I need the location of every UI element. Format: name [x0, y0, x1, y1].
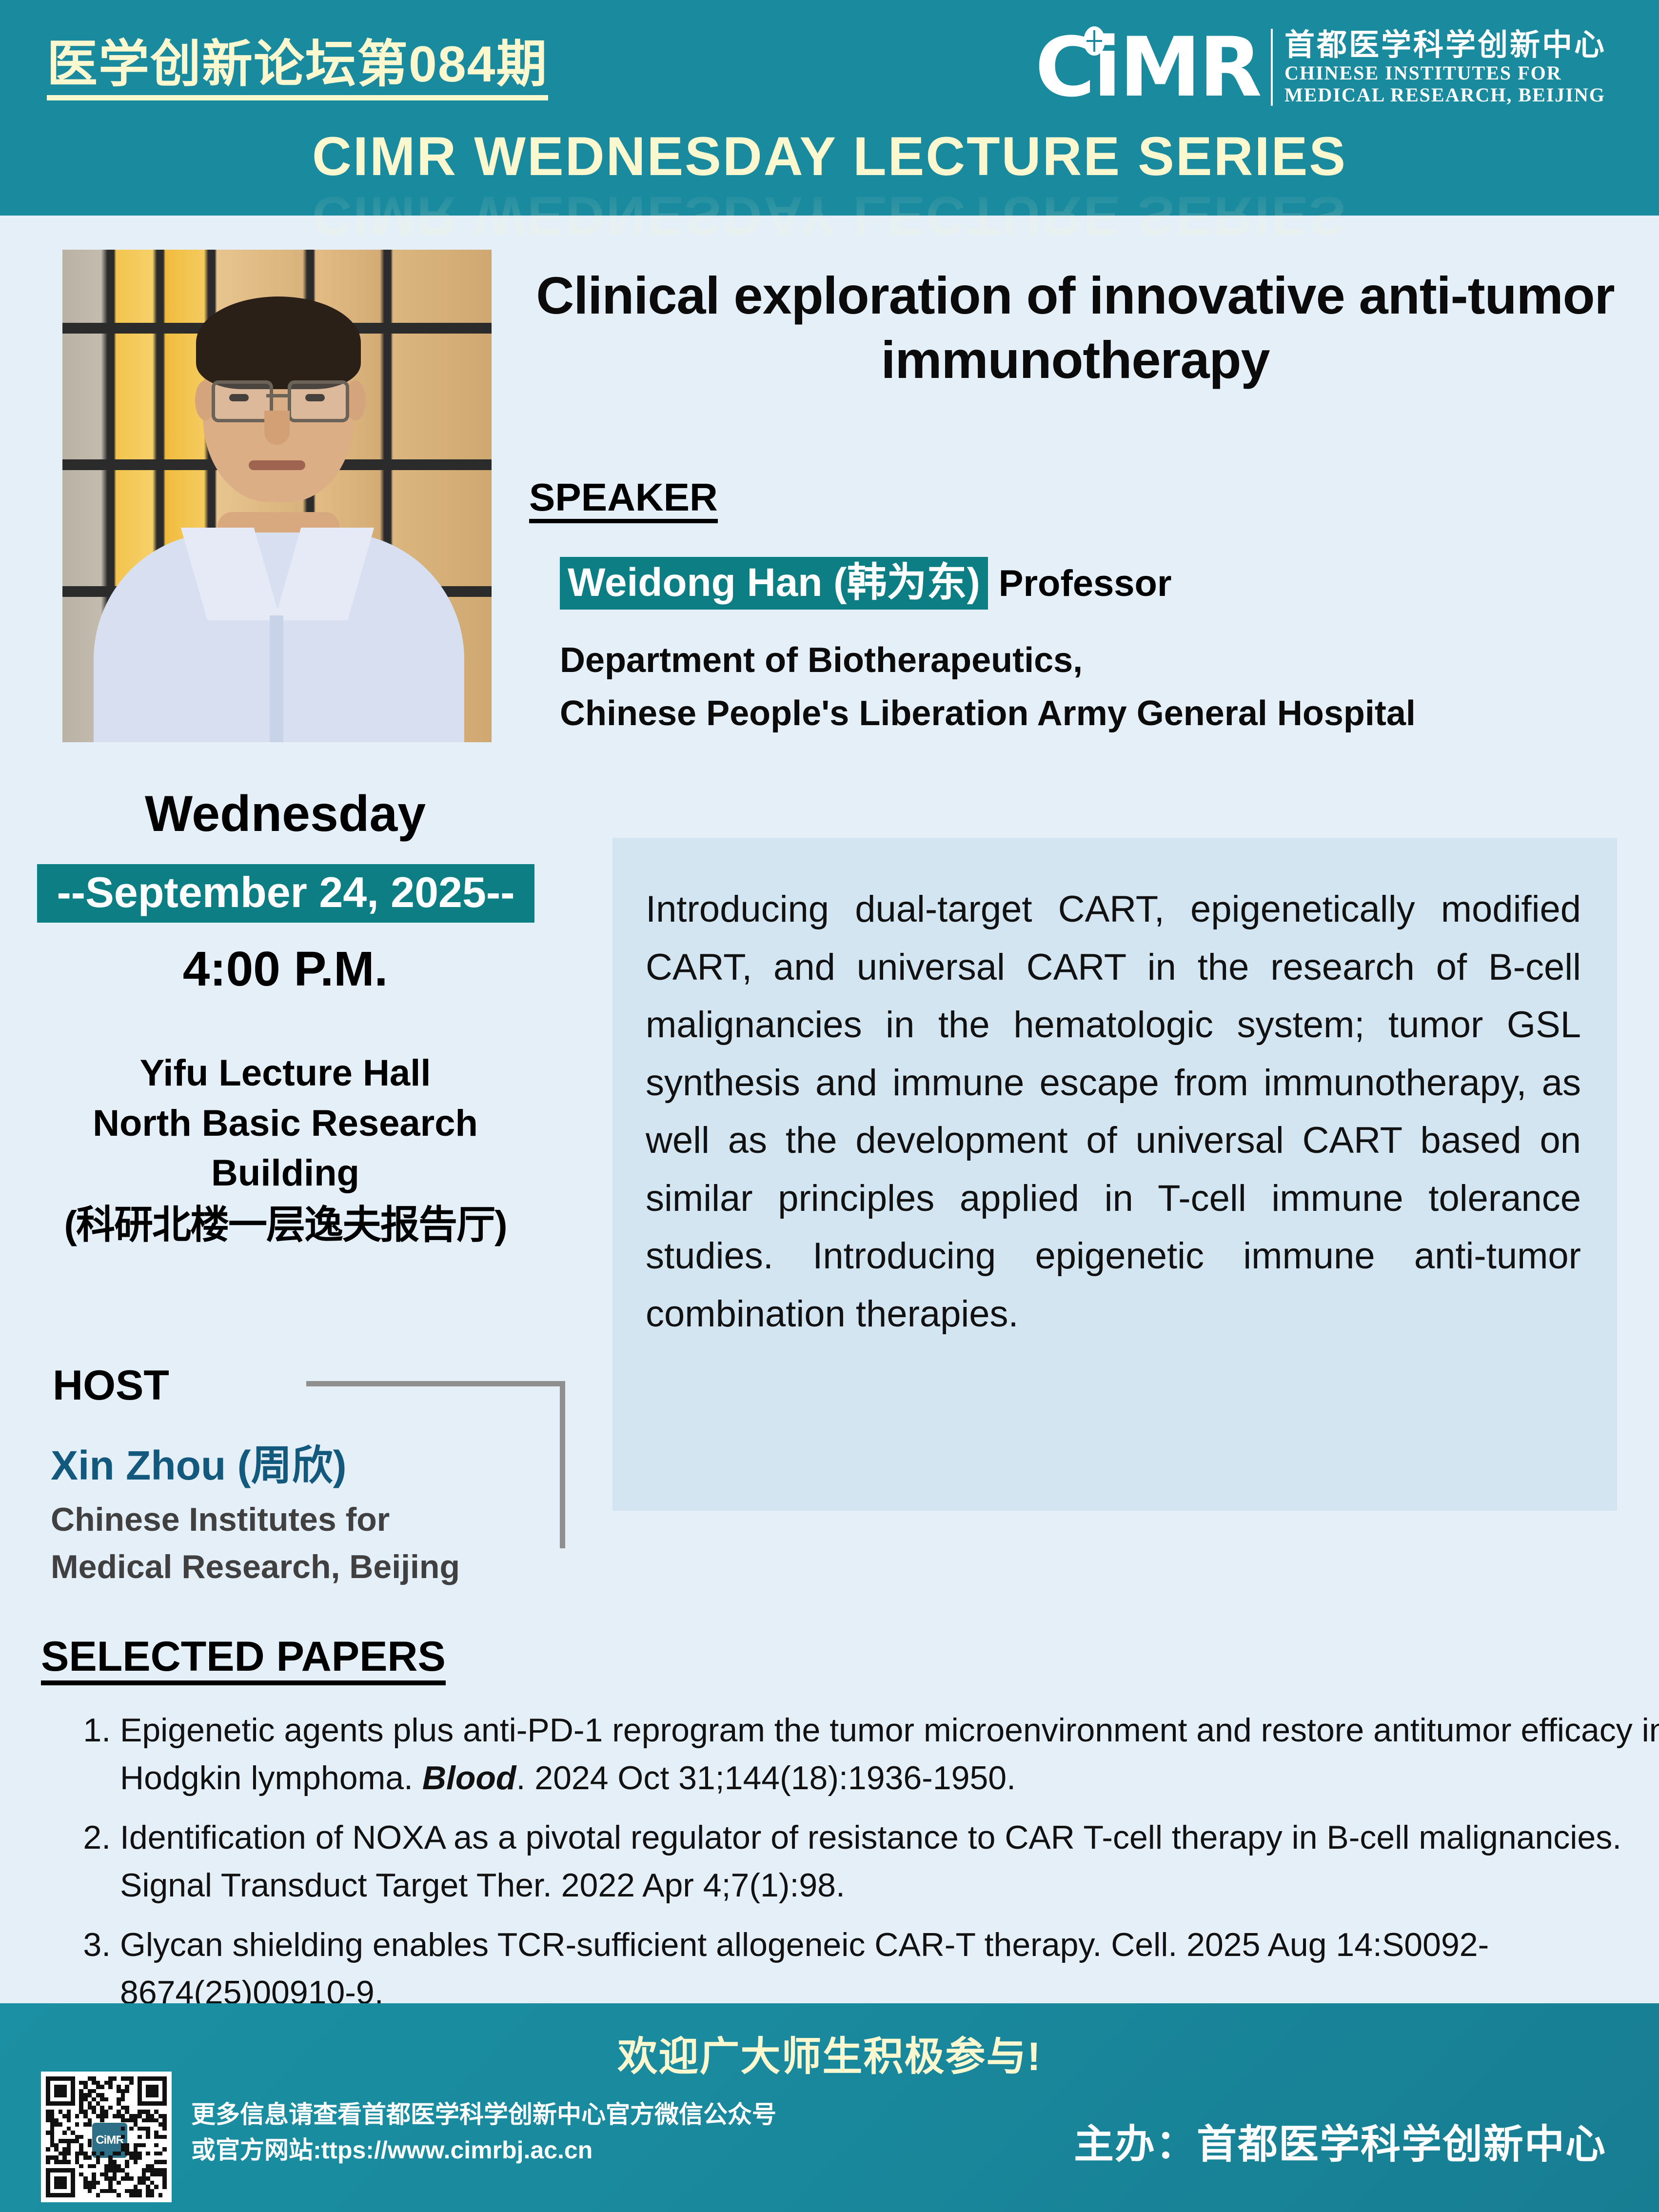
- qr-module: [79, 2152, 83, 2156]
- qr-module: [62, 2114, 67, 2118]
- qr-module: [162, 2114, 167, 2118]
- qr-module: [154, 2131, 158, 2135]
- qr-module: [71, 2139, 75, 2143]
- qr-module: [158, 2160, 163, 2164]
- qr-module: [100, 2085, 104, 2089]
- qr-module: [67, 2143, 71, 2148]
- qr-module: [142, 2143, 146, 2148]
- qr-module: [79, 2135, 83, 2139]
- qr-module: [121, 2143, 125, 2148]
- qr-module: [134, 2118, 138, 2123]
- qr-module: [92, 2181, 96, 2185]
- qr-module: [146, 2114, 150, 2118]
- qr-module: [79, 2143, 83, 2148]
- qr-module: [108, 2176, 113, 2181]
- qr-module: [100, 2189, 104, 2193]
- qr-module: [146, 2085, 158, 2097]
- qr-module: [100, 2093, 104, 2097]
- qr-module: [50, 2155, 55, 2160]
- qr-module: [117, 2085, 121, 2089]
- qr-module: [138, 2110, 142, 2114]
- qr-module: [134, 2152, 138, 2156]
- qr-module: [79, 2097, 83, 2102]
- qr-module: [117, 2168, 121, 2172]
- qr-module: [129, 2114, 134, 2118]
- speaker-name-row: Weidong Han (韩为东) Professor: [560, 557, 1172, 610]
- qr-module: [129, 2118, 134, 2123]
- qr-module: [138, 2076, 142, 2106]
- qr-module: [50, 2127, 55, 2131]
- qr-module: [158, 2152, 163, 2156]
- qr-module: [104, 2097, 109, 2102]
- qr-module: [142, 2176, 146, 2181]
- qr-module: [154, 2160, 158, 2164]
- qr-module: [125, 2189, 129, 2193]
- footer-info-line2: 或官方网站:ttps://www.cimrbj.ac.cn: [191, 2133, 776, 2168]
- qr-module: [54, 2176, 67, 2189]
- qr-module: [50, 2114, 55, 2118]
- qr-module: [50, 2122, 55, 2127]
- qr-module: [75, 2122, 79, 2127]
- qr-module: [162, 2181, 167, 2185]
- qr-module: [46, 2110, 50, 2114]
- speaker-affiliation: Department of Biotherapeutics, Chinese P…: [560, 634, 1647, 741]
- qr-module: [142, 2127, 146, 2131]
- qr-module: [92, 2089, 96, 2093]
- qr-module: [162, 2147, 167, 2152]
- qr-module: [146, 2135, 150, 2139]
- qr-module: [83, 2176, 88, 2181]
- qr-module: [142, 2181, 146, 2185]
- cimr-cross-dot-icon: [1084, 26, 1105, 56]
- qr-module: [67, 2139, 71, 2143]
- portrait-brow-right: [293, 370, 337, 376]
- footer-info: 更多信息请查看首都医学科学创新中心官方微信公众号 或官方网站:ttps://ww…: [191, 2097, 776, 2168]
- qr-module: [62, 2131, 67, 2135]
- qr-module: [83, 2085, 88, 2089]
- qr-module: [150, 2164, 155, 2169]
- qr-module: [79, 2172, 83, 2177]
- qr-module: [162, 2122, 167, 2127]
- qr-module: [75, 2155, 79, 2160]
- qr-module: [54, 2160, 59, 2164]
- qr-module: [113, 2172, 117, 2177]
- qr-module: [129, 2152, 134, 2156]
- qr-module: [125, 2160, 129, 2164]
- qr-module: [125, 2110, 129, 2114]
- qr-module: [96, 2085, 100, 2089]
- qr-module: [162, 2176, 167, 2181]
- qr-module: [83, 2181, 88, 2185]
- qr-module: [150, 2193, 155, 2197]
- qr-module: [134, 2143, 138, 2148]
- qr-module: [79, 2106, 83, 2110]
- qr-module: [142, 2110, 146, 2114]
- qr-module: [138, 2135, 142, 2139]
- qr-module: [108, 2085, 113, 2089]
- qr-module: [117, 2193, 121, 2197]
- qr-module: [125, 2106, 129, 2110]
- qr-module: [117, 2089, 121, 2093]
- qr-module: [113, 2152, 117, 2156]
- qr-module: [129, 2076, 134, 2081]
- qr-module: [79, 2089, 83, 2093]
- qr-module: [54, 2155, 59, 2160]
- qr-module: [88, 2093, 92, 2097]
- qr-module: [108, 2106, 113, 2110]
- qr-module: [46, 2076, 50, 2106]
- qr-module: [67, 2114, 71, 2118]
- qr-module: [108, 2168, 113, 2172]
- host-affiliation-line1: Chinese Institutes for: [51, 1496, 543, 1543]
- cimr-wordmark: CiMR: [1035, 26, 1260, 108]
- qr-module: [75, 2114, 79, 2118]
- qr-module: [113, 2160, 117, 2164]
- qr-module: [134, 2185, 138, 2189]
- qr-module: [96, 2160, 100, 2164]
- qr-module: [88, 2181, 92, 2185]
- qr-module: [104, 2172, 109, 2177]
- qr-module: [117, 2114, 121, 2118]
- qr-module: [96, 2081, 100, 2085]
- qr-module: [142, 2118, 146, 2123]
- qr-module: [83, 2152, 88, 2156]
- qr-module: [113, 2168, 117, 2172]
- qr-module: [162, 2185, 167, 2189]
- qr-module: [154, 2118, 158, 2123]
- qr-module: [162, 2135, 167, 2139]
- qr-module: [96, 2193, 100, 2197]
- qr-module: [75, 2160, 79, 2164]
- qr-module: [83, 2185, 88, 2189]
- qr-module: [46, 2147, 50, 2152]
- qr-module: [146, 2185, 150, 2189]
- qr-module: [121, 2147, 125, 2152]
- qr-module: [83, 2093, 88, 2097]
- host-name: Xin Zhou (周欣): [51, 1433, 347, 1492]
- qr-module: [146, 2110, 150, 2114]
- qr-module: [108, 2081, 113, 2085]
- qr-module: [162, 2160, 167, 2164]
- qr-module: [138, 2143, 142, 2148]
- qr-module: [146, 2168, 150, 2172]
- venue-line2: North Basic Research: [20, 1099, 551, 1149]
- qr-module: [154, 2152, 158, 2156]
- qr-module: [125, 2118, 129, 2123]
- qr-module: [125, 2143, 129, 2148]
- qr-module: [100, 2172, 104, 2177]
- qr-module: [150, 2114, 155, 2118]
- qr-module: [92, 2164, 96, 2169]
- logo-divider: [1271, 29, 1273, 106]
- qr-module: [150, 2168, 155, 2172]
- qr-module: [83, 2081, 88, 2085]
- qr-module: [134, 2122, 138, 2127]
- papers-section-label: SELECTED PAPERS: [41, 1635, 446, 1685]
- abstract-text: Introducing dual-target CART, epigenetic…: [646, 881, 1581, 1343]
- paper-item: Glycan shielding enables TCR-sufficient …: [120, 1921, 1659, 2017]
- qr-module: [117, 2097, 121, 2102]
- welcome-message: 欢迎广大师生积极参与!: [0, 2024, 1659, 2082]
- qr-module: [125, 2164, 129, 2169]
- qr-module: [62, 2147, 67, 2152]
- cimr-logo: CiMR 首都医学科学创新中心 CHINESE INSTITUTES FOR M…: [1035, 23, 1606, 111]
- host-affiliation-line2: Medical Research, Beijing: [51, 1543, 543, 1591]
- qr-module: [54, 2118, 59, 2123]
- qr-module: [88, 2106, 92, 2110]
- qr-module: [92, 2152, 96, 2156]
- qr-module: [71, 2076, 75, 2106]
- qr-module: [96, 2181, 100, 2185]
- qr-module: [146, 2164, 150, 2169]
- qr-module: [62, 2139, 67, 2143]
- paper-journal: Blood: [422, 1759, 516, 1797]
- qr-module: [100, 2152, 104, 2156]
- qr-module: [79, 2101, 83, 2106]
- qr-module: [75, 2139, 79, 2143]
- qr-module: [150, 2172, 155, 2177]
- qr-module: [158, 2122, 163, 2127]
- qr-module: [50, 2143, 55, 2148]
- qr-module: [88, 2155, 92, 2160]
- qr-module: [50, 2118, 55, 2123]
- qr-module: [108, 2164, 113, 2169]
- qr-module: [129, 2193, 134, 2197]
- qr-module: [150, 2181, 155, 2185]
- qr-module: [54, 2085, 67, 2097]
- wechat-qr-code[interactable]: CiMR: [41, 2072, 172, 2202]
- qr-module: [108, 2160, 113, 2164]
- qr-module: [162, 2127, 167, 2131]
- qr-module: [134, 2189, 138, 2193]
- qr-module: [158, 2172, 163, 2177]
- qr-module: [67, 2147, 71, 2152]
- qr-module: [146, 2176, 150, 2181]
- qr-module: [150, 2118, 155, 2123]
- qr-module: [83, 2114, 88, 2118]
- qr-module: [154, 2185, 158, 2189]
- qr-module: [134, 2147, 138, 2152]
- logo-english-line1: CHINESE INSTITUTES FOR: [1284, 62, 1606, 84]
- qr-module: [83, 2110, 88, 2114]
- abstract-box: Introducing dual-target CART, epigenetic…: [612, 838, 1617, 1511]
- qr-module: [134, 2155, 138, 2160]
- qr-module: [67, 2110, 71, 2114]
- qr-module: [71, 2131, 75, 2135]
- qr-canvas: CiMR: [46, 2076, 167, 2197]
- qr-module: [92, 2185, 96, 2189]
- qr-module: [138, 2152, 142, 2156]
- qr-module: [146, 2193, 150, 2197]
- qr-module: [121, 2168, 125, 2172]
- qr-module: [62, 2155, 67, 2160]
- qr-module: [154, 2168, 158, 2172]
- qr-module: [158, 2114, 163, 2118]
- qr-module: [59, 2139, 63, 2143]
- speaker-rank: Professor: [999, 562, 1172, 605]
- qr-module: [46, 2131, 50, 2135]
- portrait-placket: [270, 615, 283, 742]
- qr-module: [54, 2122, 59, 2127]
- qr-module: [117, 2110, 121, 2114]
- qr-module: [150, 2189, 155, 2193]
- qr-module: [121, 2097, 125, 2102]
- qr-module: [162, 2168, 167, 2172]
- qr-module: [88, 2118, 92, 2123]
- qr-module: [79, 2147, 83, 2152]
- qr-module: [59, 2110, 63, 2114]
- qr-module: [50, 2110, 55, 2114]
- series-title-reflection: CIMR WEDNESDAY LECTURE SERIES: [0, 184, 1659, 247]
- qr-module: [88, 2189, 92, 2193]
- qr-module: [59, 2152, 63, 2156]
- issue-label: 医学创新论坛第084期: [47, 38, 548, 100]
- speaker-affiliation-line2: Chinese People's Liberation Army General…: [560, 687, 1647, 740]
- qr-module: [88, 2185, 92, 2189]
- qr-module: [59, 2122, 63, 2127]
- qr-module: [129, 2189, 134, 2193]
- qr-module: [129, 2176, 134, 2181]
- qr-module: [138, 2189, 142, 2193]
- qr-module: [96, 2101, 100, 2106]
- qr-module: [96, 2093, 100, 2097]
- qr-module: [121, 2176, 125, 2181]
- venue-line1: Yifu Lecture Hall: [20, 1048, 551, 1099]
- qr-module: [88, 2139, 92, 2143]
- logo-chinese-name: 首都医学科学创新中心: [1284, 28, 1606, 62]
- qr-module: [46, 2160, 50, 2164]
- qr-module: [46, 2155, 50, 2160]
- portrait-nose: [264, 411, 290, 445]
- qr-module: [54, 2143, 59, 2148]
- qr-module: [121, 2127, 125, 2131]
- qr-module: [146, 2189, 150, 2193]
- event-date: --September 24, 2025--: [37, 864, 534, 923]
- qr-module: [146, 2152, 150, 2156]
- qr-module: [113, 2176, 117, 2181]
- qr-module: [88, 2143, 92, 2148]
- qr-module: [100, 2118, 104, 2123]
- venue-line3: Building: [20, 1148, 551, 1199]
- qr-module: [79, 2164, 83, 2169]
- qr-module: [162, 2118, 167, 2123]
- qr-module: [67, 2160, 71, 2164]
- speaker-affiliation-line1: Department of Biotherapeutics,: [560, 634, 1647, 687]
- qr-module: [154, 2110, 158, 2114]
- qr-module: [125, 2147, 129, 2152]
- qr-module: [154, 2135, 158, 2139]
- qr-module: [142, 2168, 146, 2172]
- qr-module: [104, 2114, 109, 2118]
- qr-module: [104, 2110, 109, 2114]
- host-section-label: HOST: [53, 1362, 169, 1410]
- qr-module: [121, 2118, 125, 2123]
- qr-module: [154, 2143, 158, 2148]
- qr-module: [62, 2160, 67, 2164]
- qr-module: [88, 2122, 92, 2127]
- qr-module: [125, 2176, 129, 2181]
- qr-module: [88, 2089, 92, 2093]
- qr-module: [50, 2139, 55, 2143]
- qr-module: [158, 2193, 163, 2197]
- qr-module: [92, 2106, 96, 2110]
- qr-module: [146, 2118, 150, 2123]
- qr-module: [121, 2089, 125, 2093]
- qr-module: [154, 2172, 158, 2177]
- speaker-portrait: [62, 250, 492, 742]
- qr-module: [104, 2081, 109, 2085]
- qr-module: [108, 2189, 113, 2193]
- qr-module: [46, 2114, 50, 2118]
- qr-module: [108, 2185, 113, 2189]
- qr-module: [138, 2127, 142, 2131]
- qr-module: [134, 2160, 138, 2164]
- paper-item: Identification of NOXA as a pivotal regu…: [120, 1814, 1659, 1910]
- qr-module: [92, 2081, 96, 2085]
- qr-module: [46, 2118, 50, 2123]
- event-time: 4:00 P.M.: [0, 941, 571, 997]
- qr-module: [142, 2172, 146, 2177]
- qr-module: [138, 2176, 142, 2181]
- qr-module: [125, 2085, 129, 2089]
- qr-module: [79, 2093, 83, 2097]
- qr-module: [62, 2152, 67, 2156]
- qr-module: [88, 2076, 92, 2081]
- qr-module: [113, 2076, 117, 2081]
- qr-module: [129, 2127, 134, 2131]
- qr-module: [50, 2135, 55, 2139]
- qr-module: [121, 2093, 125, 2097]
- speaker-section-label: SPEAKER: [529, 477, 718, 523]
- qr-module: [67, 2127, 71, 2131]
- qr-module: [67, 2152, 71, 2156]
- qr-module: [121, 2076, 125, 2081]
- speaker-name: Weidong Han (韩为东): [560, 557, 988, 610]
- organizer: 主办：首都医学科学创新中心: [1074, 2112, 1606, 2170]
- qr-module: [79, 2081, 83, 2085]
- qr-module: [121, 2135, 125, 2139]
- qr-module: [100, 2110, 104, 2114]
- qr-module: [117, 2101, 121, 2106]
- qr-module: [108, 2181, 113, 2185]
- portrait-eyeglass-right: [288, 380, 349, 422]
- qr-module: [104, 2164, 109, 2169]
- qr-module: [92, 2176, 96, 2181]
- qr-module: [117, 2152, 121, 2156]
- qr-module: [113, 2189, 117, 2193]
- qr-module: [113, 2114, 117, 2118]
- logo-english-line2: MEDICAL RESEARCH, BEIJING: [1284, 84, 1606, 106]
- qr-module: [158, 2135, 163, 2139]
- qr-module: [158, 2168, 163, 2172]
- qr-module: [117, 2164, 121, 2169]
- qr-module: [129, 2081, 134, 2085]
- papers-list: Epigenetic agents plus anti-PD-1 reprogr…: [73, 1707, 1659, 2028]
- qr-module: [138, 2155, 142, 2160]
- event-venue: Yifu Lecture Hall North Basic Research B…: [20, 1048, 551, 1251]
- qr-module: [125, 2152, 129, 2156]
- qr-module: [71, 2168, 75, 2197]
- qr-module: [100, 2106, 104, 2110]
- portrait-brow-left: [217, 370, 261, 376]
- qr-module: [96, 2114, 100, 2118]
- qr-module: [129, 2155, 134, 2160]
- venue-chinese: (科研北楼一层逸夫报告厅): [20, 1199, 551, 1251]
- qr-module: [146, 2127, 150, 2131]
- qr-module: [88, 2164, 92, 2169]
- qr-module: [46, 2168, 50, 2197]
- qr-module: [134, 2114, 138, 2118]
